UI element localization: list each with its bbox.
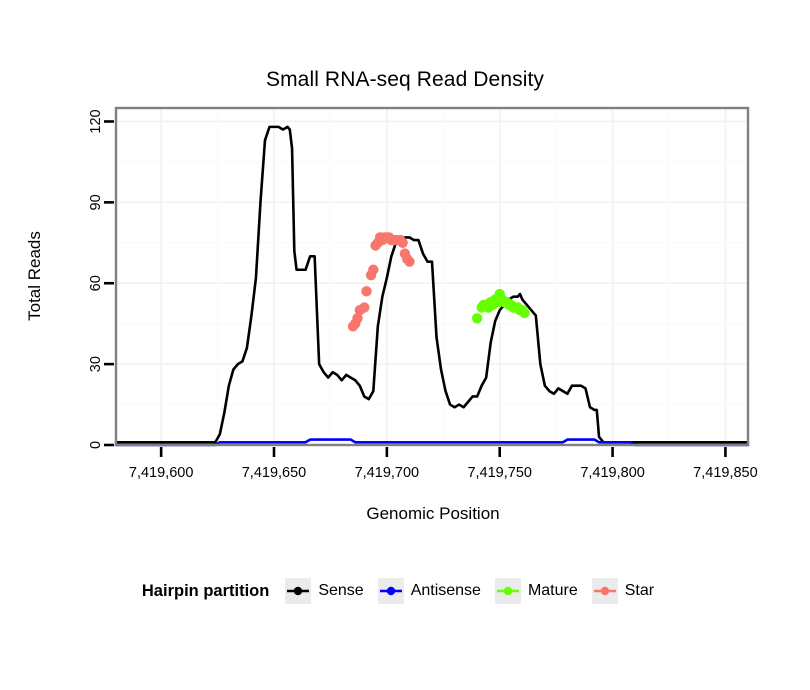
y-axis-title: Total Reads xyxy=(25,231,44,321)
x-axis: 7,419,6007,419,6507,419,7007,419,7507,41… xyxy=(129,447,758,481)
chart-figure: Small RNA-seq Read Density 7,419,6007,41… xyxy=(0,0,810,690)
legend-entry-star[interactable]: Star xyxy=(592,578,654,604)
y-tick-label: 120 xyxy=(88,109,104,133)
legend-key-antisense-icon xyxy=(378,578,404,604)
x-tick-label: 7,419,650 xyxy=(242,465,307,481)
legend-label-sense: Sense xyxy=(318,582,363,600)
x-tick-label: 7,419,700 xyxy=(355,465,420,481)
legend-key-sense-icon xyxy=(285,578,311,604)
legend-entries: SenseAntisenseMatureStar xyxy=(285,578,668,604)
y-tick-label: 30 xyxy=(88,356,104,372)
x-tick-label: 7,419,800 xyxy=(580,465,645,481)
y-axis: 0306090120 xyxy=(88,109,114,449)
legend-label-mature: Mature xyxy=(528,582,578,600)
legend-entry-mature[interactable]: Mature xyxy=(495,578,578,604)
y-tick-label: 90 xyxy=(88,194,104,210)
x-axis-title: Genomic Position xyxy=(366,504,499,523)
x-tick-label: 7,419,750 xyxy=(467,465,532,481)
y-tick-label: 60 xyxy=(88,275,104,291)
legend: Hairpin partition SenseAntisenseMatureSt… xyxy=(0,578,810,604)
legend-title: Hairpin partition xyxy=(142,582,269,601)
legend-entry-sense[interactable]: Sense xyxy=(285,578,363,604)
x-tick-label: 7,419,850 xyxy=(693,465,758,481)
x-tick-label: 7,419,600 xyxy=(129,465,194,481)
legend-label-star: Star xyxy=(625,582,654,600)
legend-key-star-icon xyxy=(592,578,618,604)
legend-entry-antisense[interactable]: Antisense xyxy=(378,578,481,604)
legend-key-mature-icon xyxy=(495,578,521,604)
legend-label-antisense: Antisense xyxy=(411,582,481,600)
y-tick-label: 0 xyxy=(88,441,104,449)
